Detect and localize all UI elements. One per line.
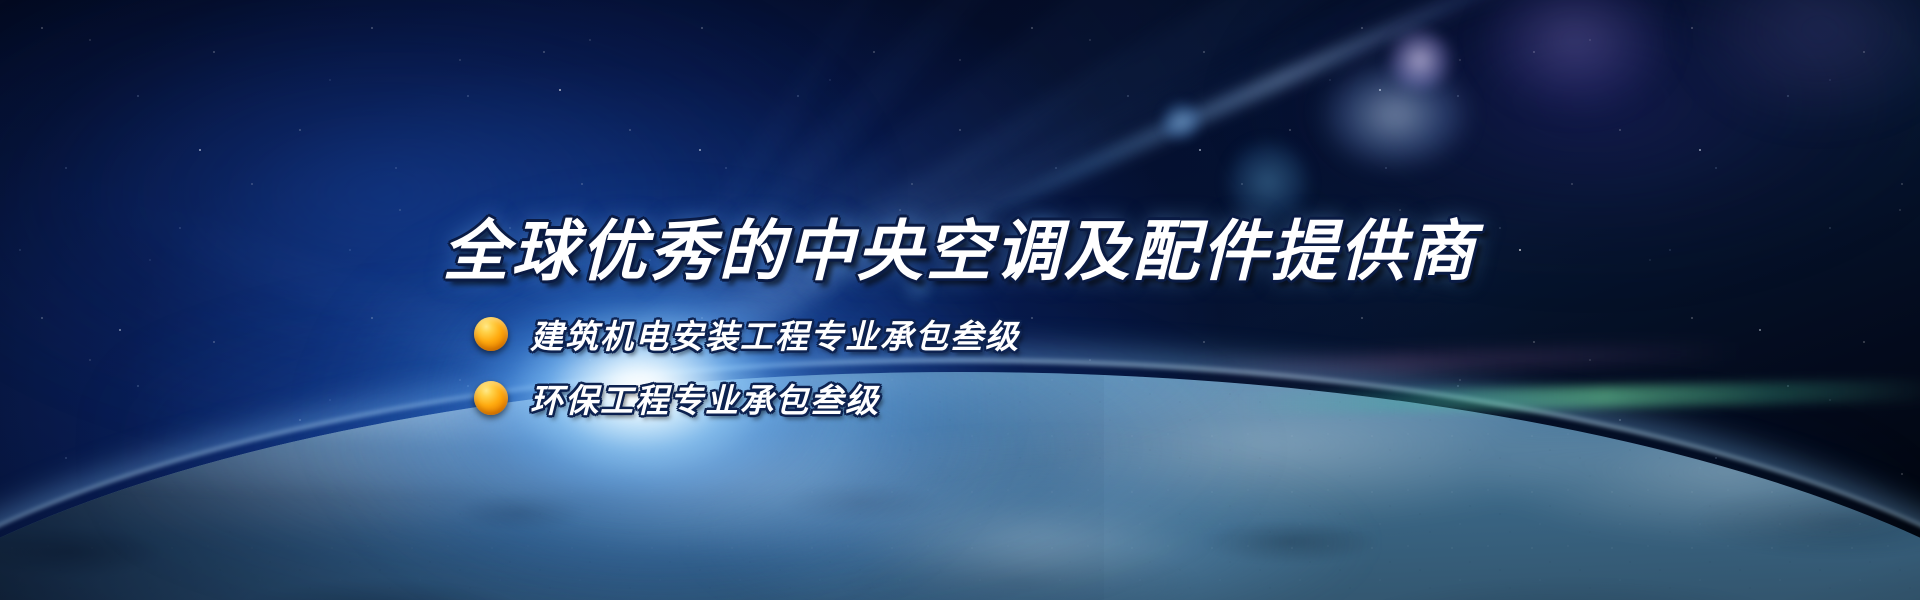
orange-dot-bullet-icon <box>474 381 508 415</box>
banner-headline: 全球优秀的中央空调及配件提供商 <box>0 198 1920 294</box>
orange-dot-bullet-icon <box>474 317 508 351</box>
bullet-item-1: 建筑机电安装工程专业承包叁级 <box>474 310 1020 358</box>
bullet-item-1-label: 建筑机电安装工程专业承包叁级 <box>530 310 1020 358</box>
bullet-item-2: 环保工程专业承包叁级 <box>474 374 1020 422</box>
banner-content: 全球优秀的中央空调及配件提供商 建筑机电安装工程专业承包叁级 环保工程专业承包叁… <box>0 0 1920 600</box>
hero-banner: 全球优秀的中央空调及配件提供商 建筑机电安装工程专业承包叁级 环保工程专业承包叁… <box>0 0 1920 600</box>
bullet-item-2-label: 环保工程专业承包叁级 <box>530 374 880 422</box>
banner-bullet-list: 建筑机电安装工程专业承包叁级 环保工程专业承包叁级 <box>474 310 1020 422</box>
